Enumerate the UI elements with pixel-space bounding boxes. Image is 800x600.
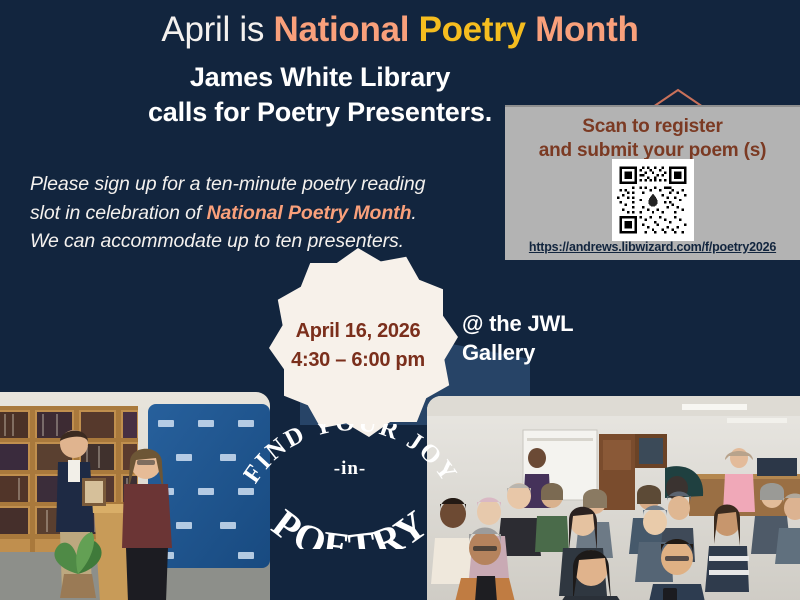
event-date: April 16, 2026 (291, 317, 425, 346)
headline-poetry: Poetry (419, 10, 536, 49)
event-venue-line-2: Gallery (462, 339, 632, 368)
event-time: 4:30 – 6:00 pm (291, 346, 425, 375)
subtitle-line-1: James White Library (0, 60, 640, 95)
event-venue: @ the JWL Gallery (462, 310, 632, 367)
qr-panel-title: Scan to register and submit your poem (s… (505, 115, 800, 163)
qr-title-line-1: Scan to register (505, 115, 800, 139)
event-venue-line-1: @ the JWL (462, 310, 632, 339)
body-emphasis: National Poetry Month (207, 202, 412, 224)
qr-code-icon[interactable] (612, 159, 694, 241)
qr-registration-panel: Scan to register and submit your poem (s… (505, 105, 800, 260)
photo-audience (427, 396, 800, 600)
arc-bottom-text: POETRY (264, 500, 437, 549)
arc-middle-text: -in- (334, 458, 367, 479)
headline-month: Month (535, 10, 638, 49)
page-title: April is National Poetry Month (0, 12, 800, 49)
poster-canvas: April is National Poetry Month James Whi… (0, 0, 800, 600)
headline-national: National (273, 10, 418, 49)
body-paragraph: Please sign up for a ten-minute poetry r… (30, 170, 450, 256)
headline-plain: April is (161, 10, 273, 49)
photo-library-podium (0, 392, 270, 600)
find-your-joy-badge: FIND YOUR JOY -in- POETRY (243, 424, 458, 549)
qr-registration-link[interactable]: https://andrews.libwizard.com/f/poetry20… (505, 240, 800, 254)
